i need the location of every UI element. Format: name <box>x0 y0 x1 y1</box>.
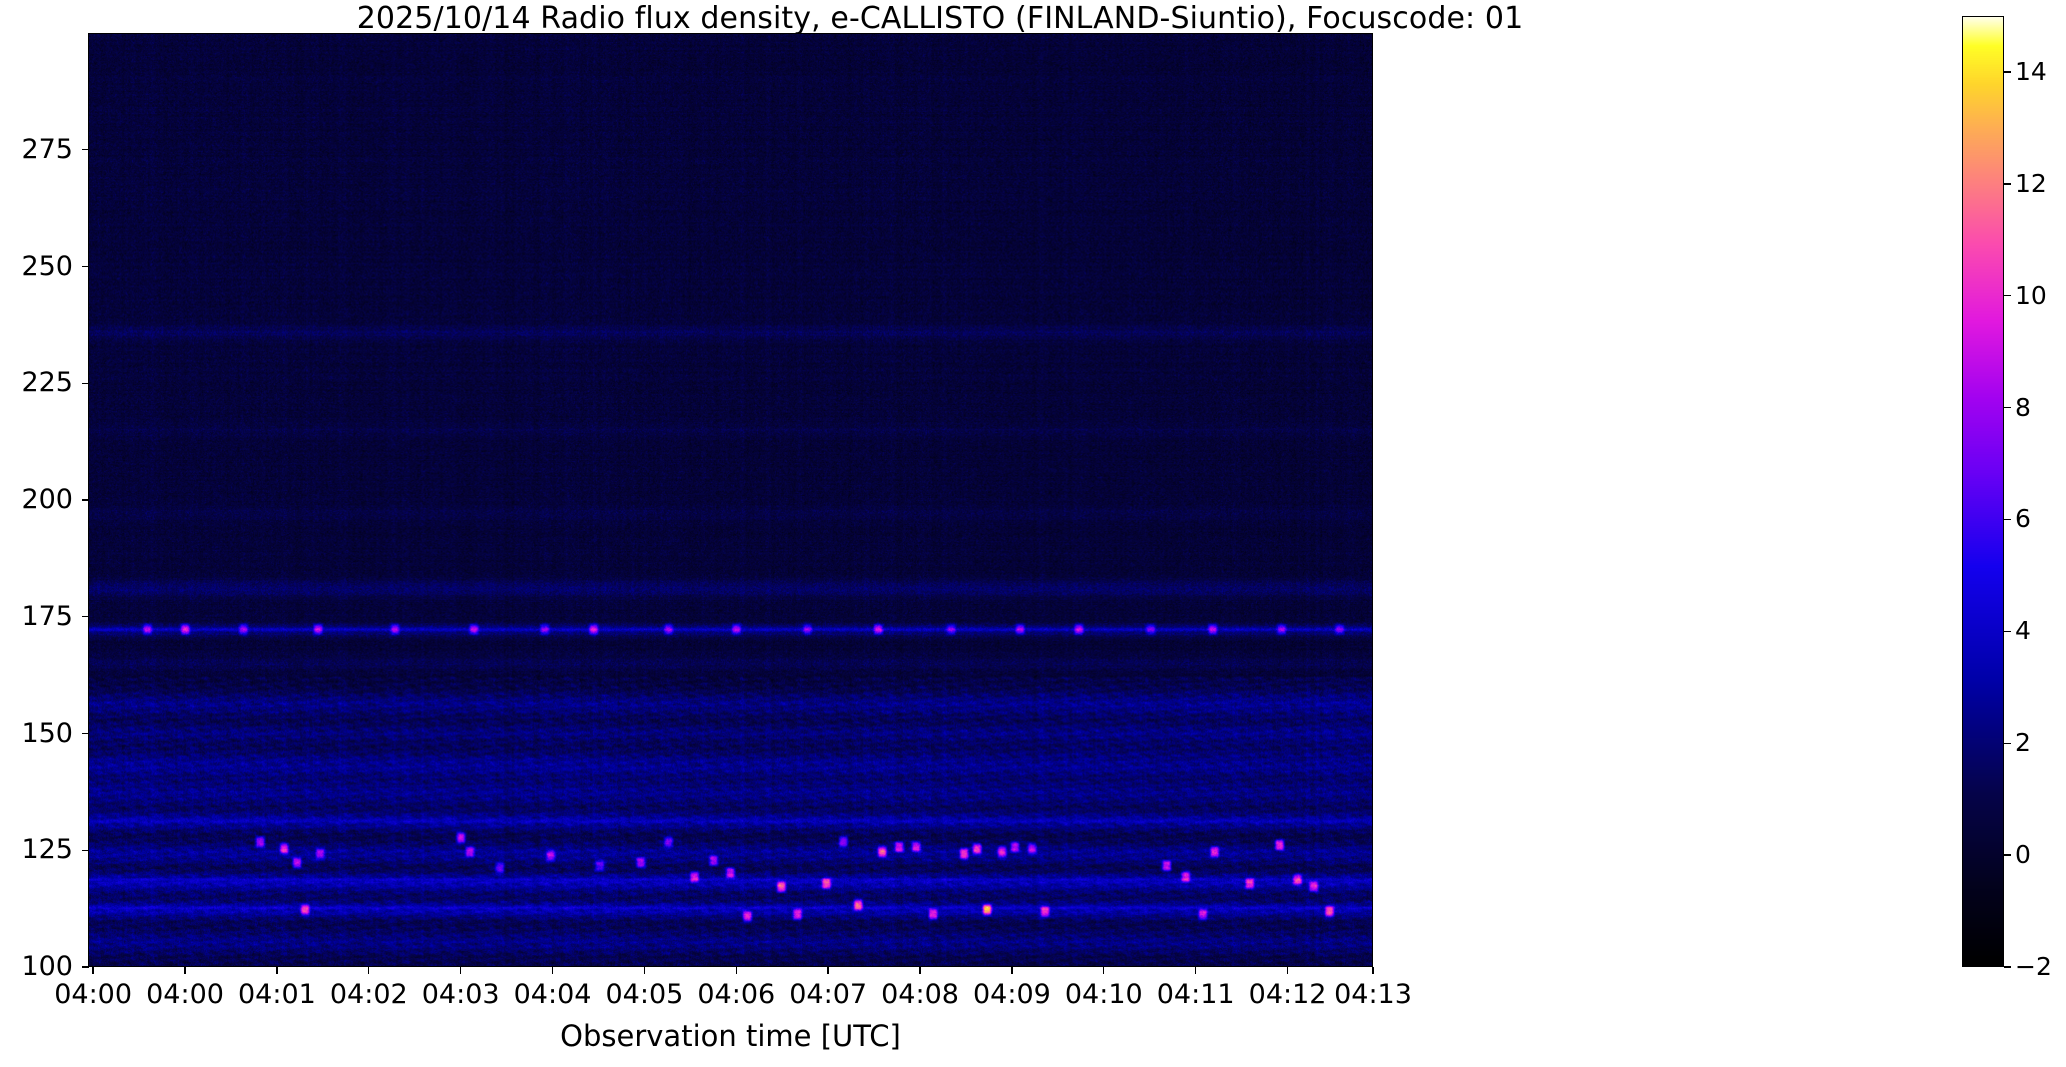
x-tick-label: 04:01 <box>238 980 316 1010</box>
x-tick-mark <box>276 967 277 974</box>
y-tick-mark <box>82 850 89 851</box>
colorbar-tick-mark <box>2004 519 2011 520</box>
x-tick-mark <box>1372 967 1373 974</box>
y-tick-mark <box>82 616 89 617</box>
y-tick-mark <box>82 966 89 967</box>
x-tick-mark <box>919 967 920 974</box>
spectrogram-figure: 2025/10/14 Radio flux density, e-CALLIST… <box>0 0 2066 1067</box>
y-tick-mark <box>82 266 89 267</box>
colorbar-tick-mark <box>2004 966 2011 967</box>
y-tick-mark <box>82 499 89 500</box>
colorbar-tick-label: 10 <box>2015 283 2047 308</box>
colorbar-tick-label: 8 <box>2015 395 2031 420</box>
colorbar-tick-mark <box>2004 71 2011 72</box>
x-axis-label: Observation time [UTC] <box>88 1020 1373 1052</box>
x-tick-mark <box>1287 967 1288 974</box>
x-tick-label: 04:13 <box>1334 980 1412 1010</box>
x-tick-label: 04:06 <box>697 980 775 1010</box>
y-tick-label: 275 <box>21 136 73 163</box>
colorbar-tick-mark <box>2004 631 2011 632</box>
x-tick-label: 04:03 <box>422 980 500 1010</box>
x-tick-mark <box>736 967 737 974</box>
x-tick-label: 04:04 <box>514 980 592 1010</box>
y-tick-label: 200 <box>21 486 73 513</box>
x-tick-mark <box>92 967 93 974</box>
y-tick-label: 250 <box>21 253 73 280</box>
spectrogram-axes[interactable] <box>88 33 1373 967</box>
x-tick-mark <box>460 967 461 974</box>
y-tick-label: 225 <box>21 369 73 396</box>
x-tick-mark <box>1011 967 1012 974</box>
colorbar-tick-mark <box>2004 183 2011 184</box>
spectrogram-image <box>89 34 1372 966</box>
colorbar-tick-mark <box>2004 743 2011 744</box>
x-tick-label: 04:09 <box>973 980 1051 1010</box>
colorbar-tick-label: 6 <box>2015 506 2031 531</box>
x-tick-label: 04:00 <box>146 980 224 1010</box>
colorbar-tick-mark <box>2004 407 2011 408</box>
colorbar-tick-label: 12 <box>2015 171 2047 196</box>
x-tick-mark <box>644 967 645 974</box>
colorbar[interactable] <box>1962 16 2004 967</box>
y-tick-label: 125 <box>21 836 73 863</box>
x-tick-mark <box>552 967 553 974</box>
x-tick-label: 04:11 <box>1157 980 1235 1010</box>
x-tick-label: 04:10 <box>1065 980 1143 1010</box>
x-tick-mark <box>368 967 369 974</box>
colorbar-gradient <box>1963 17 2003 966</box>
x-tick-mark <box>827 967 828 974</box>
colorbar-tick-label: 2 <box>2015 730 2031 755</box>
x-tick-label: 04:05 <box>605 980 683 1010</box>
y-tick-label: 100 <box>21 953 73 980</box>
colorbar-label: dB above background <box>2062 0 2066 16</box>
colorbar-tick-mark <box>2004 295 2011 296</box>
y-tick-mark <box>82 383 89 384</box>
colorbar-tick-mark <box>2004 854 2011 855</box>
x-tick-label: 04:08 <box>881 980 959 1010</box>
x-tick-label: 04:00 <box>54 980 132 1010</box>
x-tick-label: 04:02 <box>330 980 408 1010</box>
y-tick-mark <box>82 733 89 734</box>
x-tick-mark <box>184 967 185 974</box>
colorbar-tick-label: 0 <box>2015 842 2031 867</box>
colorbar-tick-label: 14 <box>2015 59 2047 84</box>
colorbar-tick-label: −2 <box>2015 954 2052 979</box>
y-tick-label: 150 <box>21 720 73 747</box>
y-tick-label: 175 <box>21 603 73 630</box>
x-tick-mark <box>1195 967 1196 974</box>
colorbar-tick-label: 4 <box>2015 618 2031 643</box>
y-tick-mark <box>82 149 89 150</box>
figure-title: 2025/10/14 Radio flux density, e-CALLIST… <box>0 2 1880 36</box>
x-tick-label: 04:12 <box>1249 980 1327 1010</box>
x-tick-mark <box>1103 967 1104 974</box>
x-tick-label: 04:07 <box>789 980 867 1010</box>
